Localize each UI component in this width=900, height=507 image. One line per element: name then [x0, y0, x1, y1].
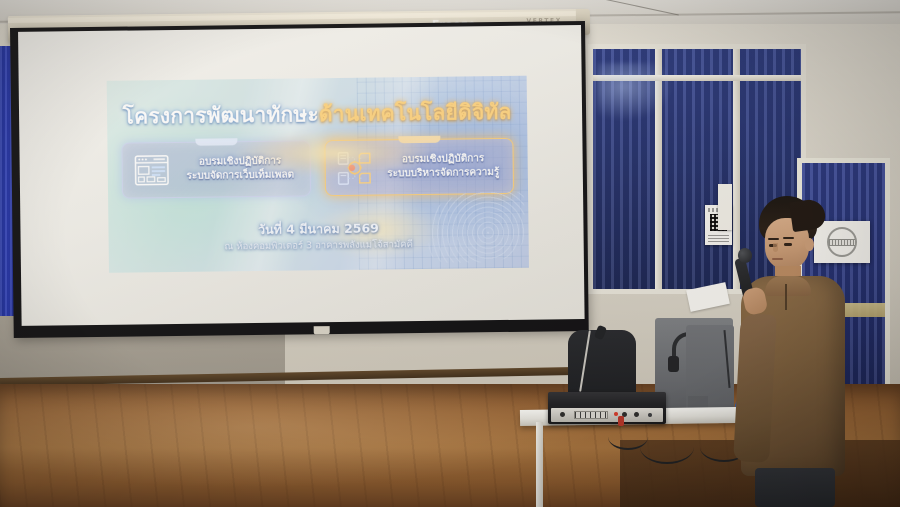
presenter-hair-sweep [789, 198, 827, 232]
web-template-icon [133, 151, 171, 189]
amplifier-indicator [648, 413, 652, 417]
projection-screen: โครงการพัฒนาทักษะด้านเทคโนโลยีดิจิทัล [10, 21, 589, 338]
cable-2 [640, 430, 694, 464]
amplifier-sliders[interactable] [574, 411, 608, 419]
presentation-slide: โครงการพัฒนาทักษะด้านเทคโนโลยีดิจิทัล [107, 76, 529, 273]
presenter-eyebrow-right [783, 237, 794, 239]
screen-bottom-tab [314, 326, 330, 334]
presenter-eye-right [784, 243, 792, 246]
qr-poster-text [708, 234, 729, 242]
presenter [735, 196, 865, 507]
cable-plug-red-2 [618, 416, 624, 426]
window-glass-reflection [597, 63, 673, 121]
audio-amplifier[interactable] [548, 392, 666, 424]
side-poster [718, 184, 732, 230]
presenter-ear [805, 238, 814, 251]
slide-fingerprint-graphic [428, 192, 525, 263]
slide-title: โครงการพัฒนาทักษะด้านเทคโนโลยีดิจิทัล [107, 96, 527, 134]
photo-scene: VERTEX Freeze โครงการพัฒนาทักษะด้านเทคโน… [0, 0, 900, 507]
presenter-collar [765, 276, 811, 296]
projection-screen-surface: โครงการพัฒนาทักษะด้านเทคโนโลยีดิจิทัล [18, 25, 585, 326]
slide-title-main: โครงการพัฒนาทักษะ [122, 102, 319, 128]
panel-notch [195, 138, 237, 146]
presenter-zipper [785, 284, 787, 310]
presenter-mouth [772, 258, 783, 260]
presenter-trousers [755, 468, 835, 507]
presenter-eyebrow-left [768, 238, 779, 240]
amplifier-knob-1[interactable] [560, 412, 565, 417]
amplifier-knob-3[interactable] [634, 412, 639, 417]
projector-lens-flare [235, 129, 436, 177]
desk-leg-left [536, 422, 543, 507]
presenter-nose [773, 243, 778, 252]
slide-title-accent: ด้านเทคโนโลยีดิจิทัล [319, 100, 512, 126]
headphone-earcup [668, 356, 679, 372]
amplifier-power-led [614, 412, 618, 416]
